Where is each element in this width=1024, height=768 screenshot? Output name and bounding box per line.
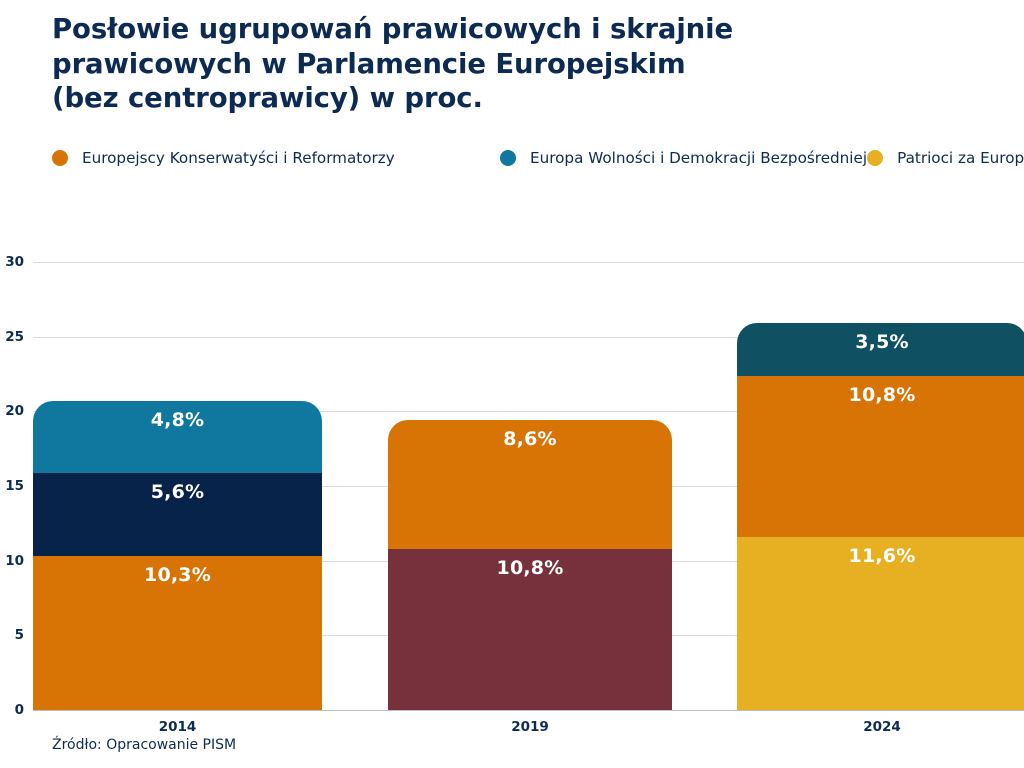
bar-segment[interactable]: 4,8% — [33, 401, 322, 473]
y-axis-tick-label: 0 — [0, 702, 24, 718]
chart-plot-area: 051015202530 10,3%5,6%4,8%10,8%8,6%11,6%… — [0, 0, 1024, 768]
x-axis-tick-label: 2024 — [863, 719, 901, 735]
bar-segment-value-label: 11,6% — [849, 545, 916, 710]
bar-segment-value-label: 10,3% — [144, 564, 211, 710]
bar-segment[interactable]: 8,6% — [388, 420, 672, 548]
bar-stack[interactable]: 10,8%8,6% — [388, 420, 672, 710]
bar-segment-value-label: 10,8% — [849, 384, 916, 537]
x-axis-line — [33, 710, 1024, 711]
x-axis-tick-label: 2014 — [159, 719, 197, 735]
bar-segment[interactable]: 10,8% — [737, 376, 1024, 537]
y-axis-tick-label: 25 — [0, 329, 24, 345]
bar-segment-value-label: 8,6% — [503, 428, 557, 548]
source-note: Źródło: Opracowanie PISM — [52, 737, 236, 753]
bar-segment[interactable]: 5,6% — [33, 473, 322, 557]
y-axis-tick-label: 15 — [0, 478, 24, 494]
x-axis-tick-label: 2019 — [511, 719, 549, 735]
gridline — [33, 262, 1024, 263]
y-axis-tick-label: 30 — [0, 254, 24, 270]
bar-segment[interactable]: 10,3% — [33, 556, 322, 710]
bar-segment-value-label: 4,8% — [151, 409, 205, 473]
bar-segment-value-label: 10,8% — [497, 557, 564, 710]
bar-segment-value-label: 5,6% — [151, 481, 205, 557]
y-axis-tick-label: 10 — [0, 553, 24, 569]
bar-segment[interactable]: 10,8% — [388, 549, 672, 710]
bar-stack[interactable]: 10,3%5,6%4,8% — [33, 401, 322, 710]
y-axis-tick-label: 20 — [0, 403, 24, 419]
bar-segment-value-label: 3,5% — [855, 331, 909, 375]
bar-segment[interactable]: 3,5% — [737, 323, 1024, 375]
y-axis-tick-label: 5 — [0, 627, 24, 643]
bar-stack[interactable]: 11,6%10,8%3,5% — [737, 323, 1024, 710]
bar-segment[interactable]: 11,6% — [737, 537, 1024, 710]
